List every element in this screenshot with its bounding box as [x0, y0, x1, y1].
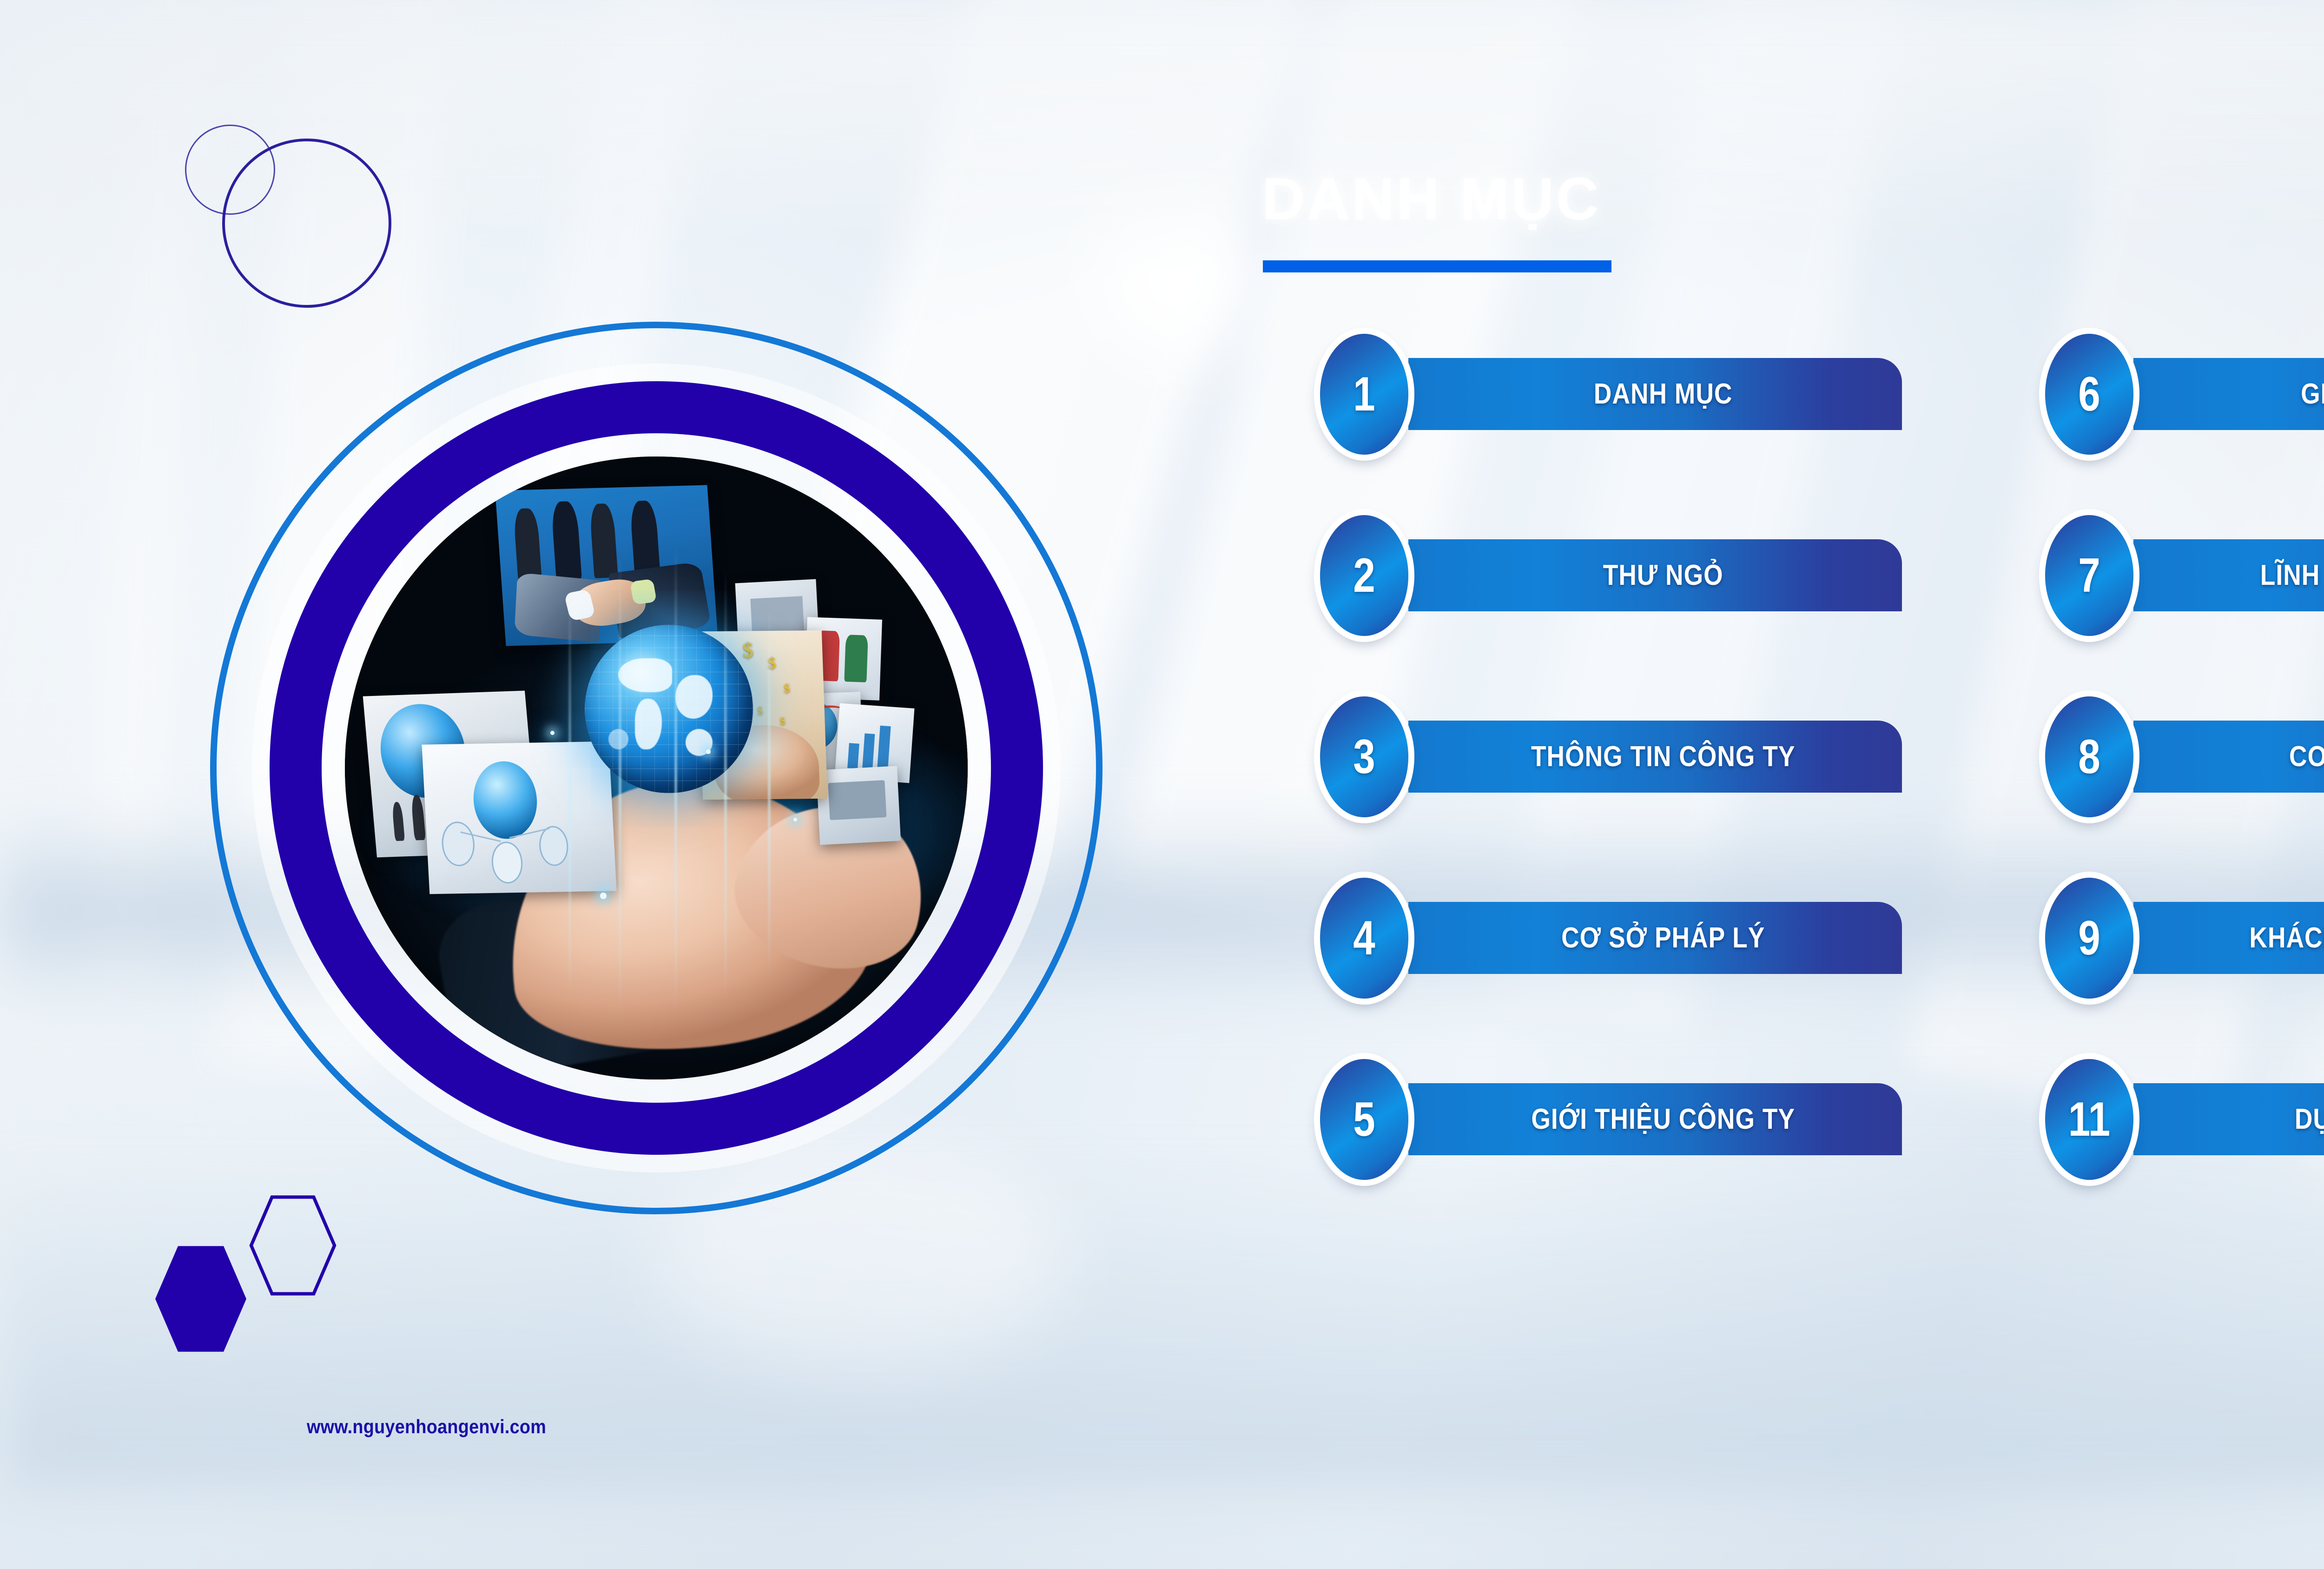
menu-card[interactable]: CƠ SỞ PHÁP LÝ [1408, 902, 1902, 974]
menu-item-number-badge[interactable]: 6 [2045, 334, 2133, 455]
menu-item-label: KHÁCH HÀNG TIÊU BIỂU [2170, 921, 2324, 954]
menu-item-label: THÔNG TIN CÔNG TY [1443, 740, 1867, 773]
menu-item-number: 3 [1353, 733, 1375, 781]
menu-item-label: THƯ NGỎ [1443, 559, 1867, 592]
menu-item-number: 4 [1353, 914, 1375, 962]
menu-item-number-badge[interactable]: 9 [2045, 878, 2133, 999]
menu-card[interactable]: GIÁ TRỊ CỐT LÕI [2133, 358, 2324, 430]
menu-card[interactable]: CƠ CẤU TỔ CHỨC [2133, 721, 2324, 793]
menu-item-label: CƠ SỞ PHÁP LÝ [1443, 921, 1867, 954]
menu-item-label: GIÁ TRỊ CỐT LÕI [2170, 377, 2324, 410]
menu-item-number-badge[interactable]: 2 [1320, 515, 1408, 636]
feature-photo: $ $ $ $ $ $ $ $ $ [345, 457, 968, 1079]
menu-item-number: 8 [2078, 733, 2100, 781]
menu-item-number: 7 [2078, 551, 2100, 600]
hex-bottom-left-filled-navy-icon [155, 1246, 246, 1352]
menu-card[interactable]: GIỚI THIỆU CÔNG TY [1408, 1083, 1902, 1155]
feature-image-circle: $ $ $ $ $ $ $ $ $ [210, 322, 1103, 1214]
menu-card[interactable]: DỰ ÁN TIÊU BIỂU [2133, 1083, 2324, 1155]
menu-item-number: 2 [1353, 551, 1375, 600]
menu-item-number-badge[interactable]: 8 [2045, 696, 2133, 817]
menu-item-number: 9 [2078, 914, 2100, 962]
menu-item-number: 1 [1353, 370, 1375, 418]
menu-card[interactable]: THƯ NGỎ [1408, 539, 1902, 611]
menu-card[interactable]: LĨNH VỰC HOẠT ĐỘNG [2133, 539, 2324, 611]
title-underline [1263, 260, 1611, 272]
menu-item-number-badge[interactable]: 11 [2045, 1059, 2133, 1180]
menu-item-label: DANH MỤC [1443, 377, 1867, 410]
menu-item-label: CƠ CẤU TỔ CHỨC [2170, 740, 2324, 773]
menu-item-label: LĨNH VỰC HOẠT ĐỘNG [2170, 559, 2324, 592]
circle-outline-large-icon [222, 139, 391, 308]
menu-item-number: 5 [1353, 1095, 1375, 1144]
menu-card[interactable]: DANH MỤC [1408, 358, 1902, 430]
menu-item-number-badge[interactable]: 5 [1320, 1059, 1408, 1180]
page-title: DANH MỤC [1262, 165, 1601, 233]
menu-card[interactable]: THÔNG TIN CÔNG TY [1408, 721, 1902, 793]
menu-item-number-badge[interactable]: 4 [1320, 878, 1408, 999]
menu-item-number-badge[interactable]: 7 [2045, 515, 2133, 636]
menu-item-number-badge[interactable]: 3 [1320, 696, 1408, 817]
website-url[interactable]: www.nguyenhoangenvi.com [307, 1416, 546, 1438]
menu-item-label: DỰ ÁN TIÊU BIỂU [2170, 1103, 2324, 1136]
menu-item-number: 6 [2078, 370, 2100, 418]
menu-item-number-badge[interactable]: 1 [1320, 334, 1408, 455]
menu-card[interactable]: KHÁCH HÀNG TIÊU BIỂU [2133, 902, 2324, 974]
menu-item-number: 11 [2068, 1095, 2110, 1144]
menu-item-label: GIỚI THIỆU CÔNG TY [1443, 1103, 1867, 1136]
